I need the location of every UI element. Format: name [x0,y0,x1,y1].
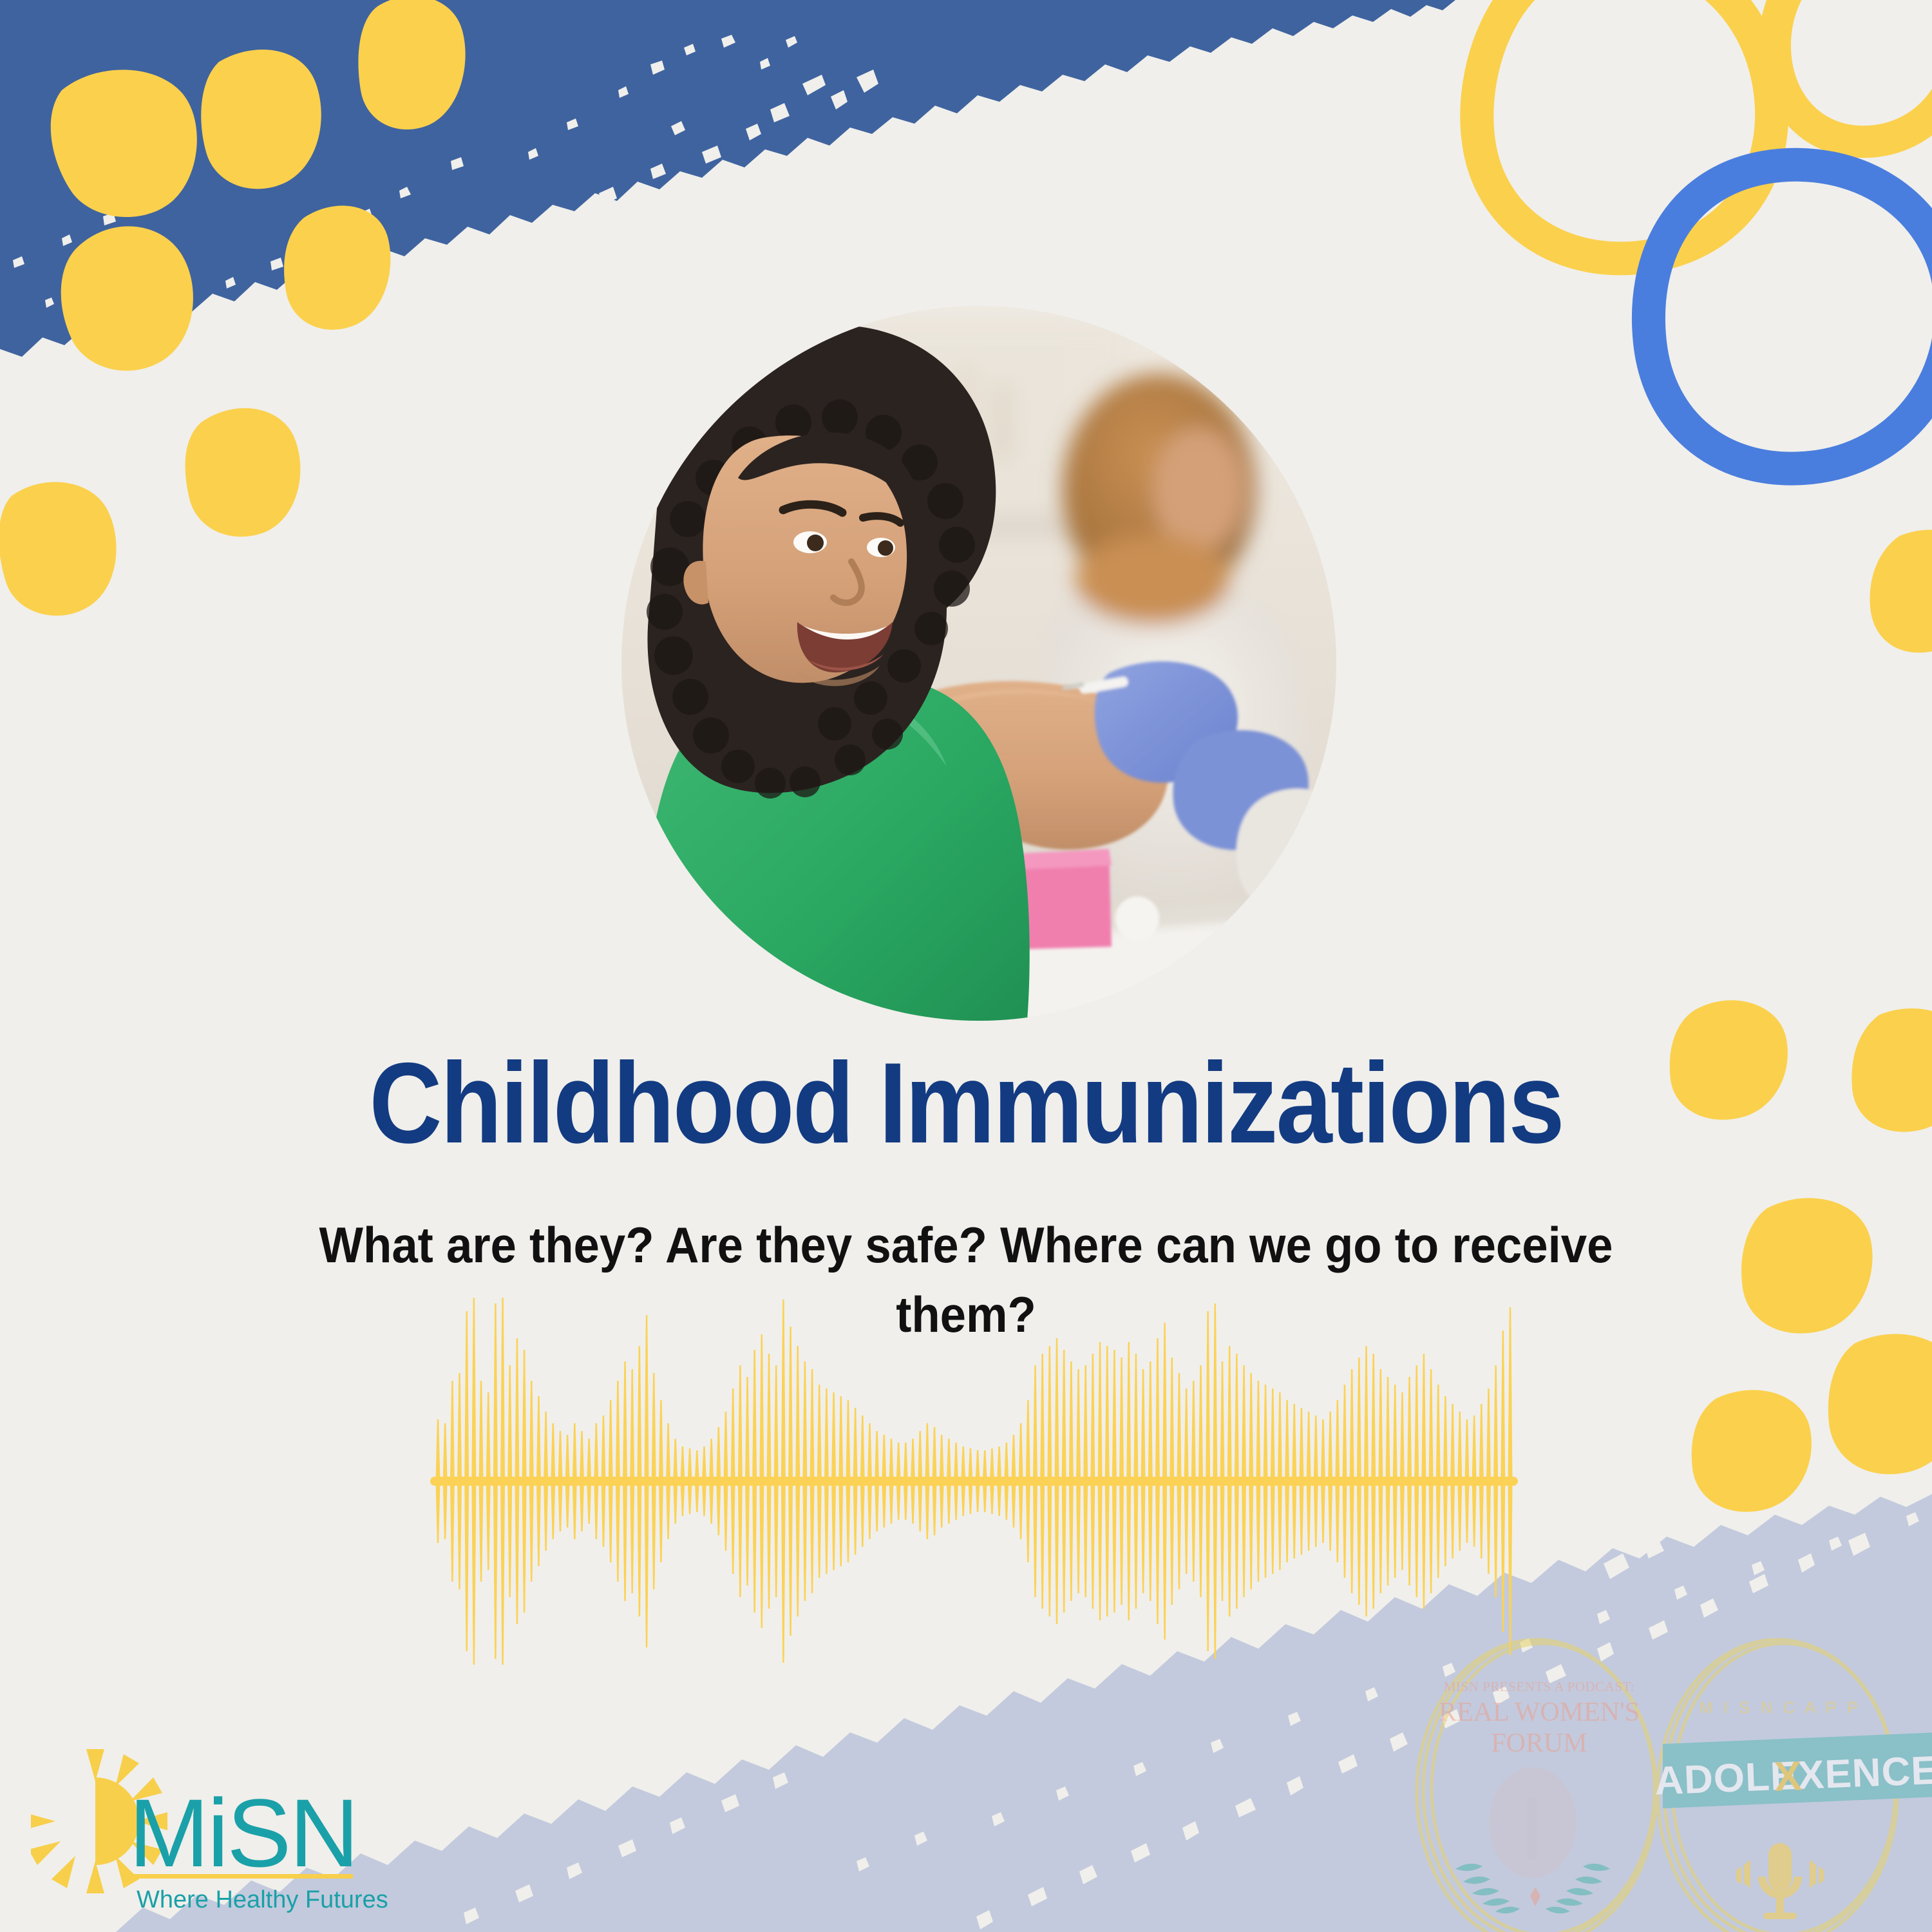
misn-logo[interactable]: MiSN Where Healthy Futures Start [31,1739,392,1932]
badge1-line2: REAL WOMEN'S [1439,1698,1640,1727]
badge1-figure-icon [1489,1767,1577,1878]
page-subtitle: What are they? Are they safe? Where can … [0,1211,1932,1349]
badge-real-womens-forum[interactable]: MISN PRESENTS A PODCAST: REAL WOMEN'S FO… [1417,1640,1656,1932]
page-title: Childhood Immunizations [0,1046,1932,1160]
badge-misn-capp-adolexence[interactable]: M I S N C A P P ADOLEXENCE X [1654,1640,1932,1932]
badge1-line3: FORUM [1491,1728,1587,1758]
podcast-badge-group: MISN PRESENTS A PODCAST: REAL WOMEN'S FO… [1410,1629,1932,1932]
podcast-episode-poster: Childhood Immunizations What are they? A… [0,0,1932,1932]
misn-tagline: Where Healthy Futures Start [137,1886,392,1913]
waveform-center-line [430,1477,1518,1486]
logo-divider [134,1874,353,1879]
subtitle-text: What are they? Are they safe? Where can … [307,1211,1625,1349]
title-text: Childhood Immunizations [369,1046,1563,1160]
microphone-icon [1736,1843,1824,1919]
misn-wordmark: MiSN [129,1779,357,1887]
badge2-line1: M I S N C A P P [1700,1699,1861,1717]
badge2-highlight-letter: X [1774,1752,1803,1800]
badge1-line1: MISN PRESENTS A PODCAST: [1444,1679,1634,1694]
